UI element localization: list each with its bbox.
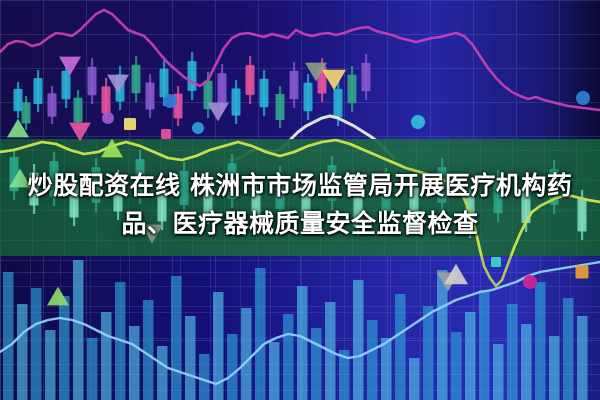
triangle-down-marker-icon [322, 70, 346, 90]
triangle-down-marker-icon [107, 75, 129, 94]
triangle-up-marker-icon [9, 169, 31, 188]
circle-marker-icon [163, 94, 177, 108]
square-marker-icon [161, 129, 171, 139]
marker-layer [0, 0, 600, 400]
triangle-up-marker-icon [47, 287, 69, 306]
circle-marker-icon [576, 91, 590, 105]
marker-group [7, 57, 590, 306]
circle-marker-icon [192, 122, 204, 134]
triangle-down-marker-icon [69, 123, 91, 142]
banner-image: 炒股配资在线 株洲市市场监管局开展医疗机构药 品、医疗器械质量安全监督检查 [0, 0, 600, 400]
square-marker-icon [124, 118, 136, 130]
square-marker-icon [576, 266, 589, 279]
circle-marker-icon [102, 112, 114, 124]
triangle-up-marker-icon [7, 119, 29, 138]
triangle-down-marker-icon [207, 103, 229, 122]
circle-marker-icon [411, 115, 425, 129]
circle-marker-icon [523, 275, 537, 289]
triangle-up-marker-icon [101, 139, 123, 158]
square-marker-icon [491, 257, 501, 267]
triangle-down-marker-icon [141, 225, 163, 244]
triangle-down-marker-icon [59, 57, 81, 76]
